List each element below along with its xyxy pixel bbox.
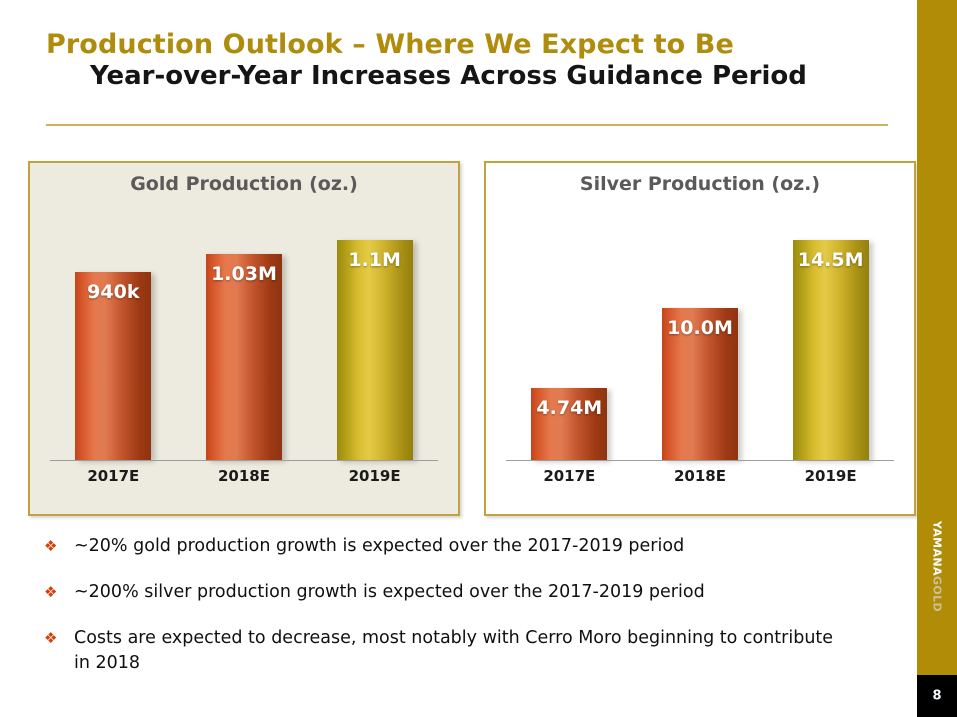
bar-slot: 1.1M (309, 211, 440, 460)
bar-value-label: 4.74M (531, 397, 607, 419)
bar-value-label: 1.03M (206, 263, 282, 285)
x-axis-labels-silver: 2017E 2018E 2019E (504, 467, 896, 485)
bar-slot: 1.03M (179, 211, 310, 460)
slide-header: Production Outlook – Where We Expect to … (46, 30, 886, 92)
bar-group-silver: 4.74M 10.0M 14.5M (504, 211, 896, 460)
brand-name-secondary: GOLD (931, 576, 944, 612)
page-number-box: 8 (917, 675, 957, 717)
chart-panel-gold: Gold Production (oz.) 940k 1.03M 1.1M (28, 161, 460, 516)
bar-slot: 14.5M (765, 211, 896, 460)
list-item: ❖ ~200% silver production growth is expe… (44, 580, 844, 605)
x-tick-label: 2019E (765, 467, 896, 485)
x-tick-label: 2018E (179, 467, 310, 485)
x-tick-label: 2019E (309, 467, 440, 485)
bar-slot: 4.74M (504, 211, 635, 460)
bullet-text: Costs are expected to decrease, most not… (74, 626, 834, 676)
chart-plot-silver: 4.74M 10.0M 14.5M 2017E 2018E 2 (504, 211, 896, 504)
chart-title-gold: Gold Production (oz.) (30, 173, 458, 195)
bar-value-label: 14.5M (793, 249, 869, 271)
bar-silver-2018e[interactable]: 10.0M (662, 308, 738, 460)
bar-slot: 940k (48, 211, 179, 460)
chart-title-silver: Silver Production (oz.) (486, 173, 914, 195)
bar-silver-2019e[interactable]: 14.5M (793, 240, 869, 460)
bar-gold-2017e[interactable]: 940k (75, 272, 151, 460)
bar-value-label: 1.1M (337, 249, 413, 271)
bar-slot: 10.0M (635, 211, 766, 460)
bar-gold-2019e[interactable]: 1.1M (337, 240, 413, 460)
diamond-bullet-icon: ❖ (44, 534, 74, 556)
diamond-bullet-icon: ❖ (44, 580, 74, 602)
x-axis-line-silver (506, 460, 894, 461)
bullet-list: ❖ ~20% gold production growth is expecte… (44, 534, 844, 696)
page-title: Production Outlook – Where We Expect to … (46, 30, 886, 60)
diamond-bullet-icon: ❖ (44, 626, 74, 648)
chart-plot-gold: 940k 1.03M 1.1M 2017E 2018E 201 (48, 211, 440, 504)
brand-logo: YAMANAGOLD (931, 521, 944, 612)
x-tick-label: 2017E (504, 467, 635, 485)
bar-silver-2017e[interactable]: 4.74M (531, 388, 607, 460)
bar-value-label: 10.0M (662, 317, 738, 339)
bullet-text: ~200% silver production growth is expect… (74, 580, 834, 605)
brand-name-primary: YAMANA (931, 521, 944, 576)
bar-value-label: 940k (75, 281, 151, 303)
brand-sidebar: YAMANAGOLD 8 (917, 0, 957, 717)
slide-canvas: Production Outlook – Where We Expect to … (0, 0, 957, 717)
page-number: 8 (917, 689, 957, 704)
list-item: ❖ Costs are expected to decrease, most n… (44, 626, 844, 676)
x-axis-line-gold (50, 460, 438, 461)
x-axis-labels-gold: 2017E 2018E 2019E (48, 467, 440, 485)
list-item: ❖ ~20% gold production growth is expecte… (44, 534, 844, 559)
header-divider (46, 124, 888, 126)
page-subtitle: Year-over-Year Increases Across Guidance… (46, 62, 886, 92)
bar-group-gold: 940k 1.03M 1.1M (48, 211, 440, 460)
chart-panel-silver: Silver Production (oz.) 4.74M 10.0M 14.5… (484, 161, 916, 516)
bar-gold-2018e[interactable]: 1.03M (206, 254, 282, 460)
x-tick-label: 2018E (635, 467, 766, 485)
bullet-text: ~20% gold production growth is expected … (74, 534, 834, 559)
x-tick-label: 2017E (48, 467, 179, 485)
